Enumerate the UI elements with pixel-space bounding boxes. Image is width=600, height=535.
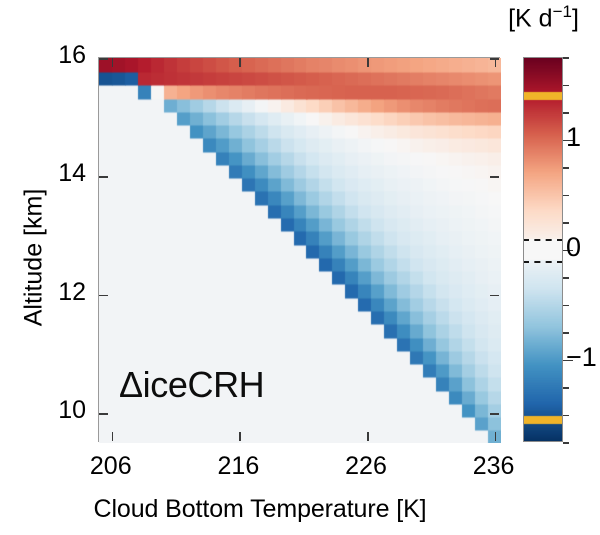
colorbar-tick-0.5 [563,195,569,197]
x-axis-title: Cloud Bottom Temperature [K] [0,495,520,524]
colorbar-label--1: −1 [566,342,597,373]
colorbar-tick-0.25 [563,222,569,224]
y-tick-10 [99,413,108,415]
colorbar-label-1: 1 [566,122,581,153]
colorbar-units-prefix: [K d [508,4,552,32]
colorbar [523,57,563,442]
colorbar-units-suffix: ] [572,4,579,32]
colorbar-zero-dash-lower [523,261,563,263]
colorbar-gradient [523,57,563,442]
y-tick-16 [490,58,499,60]
y-tick-16 [99,58,108,60]
y-tick-10 [490,413,499,415]
colorbar-tick-1.5 [563,85,569,87]
plot-annotation-label: ΔiceCRH [119,364,264,406]
colorbar-tick-1.75 [563,57,569,59]
colorbar-units-exponent: −1 [553,2,572,21]
y-tick-12 [99,295,108,297]
x-tick-236 [495,432,497,441]
x-tick-206 [112,432,114,441]
x-tick-206 [112,58,114,67]
x-tick-label-216: 216 [193,452,283,481]
colorbar-tick--0.75 [563,332,569,334]
x-tick-label-206: 206 [66,452,156,481]
x-tick-label-226: 226 [321,452,411,481]
colorbar-label-0: 0 [566,232,581,263]
colorbar-zero-dash-upper [523,239,563,241]
y-tick-14 [490,176,499,178]
x-tick-label-236: 236 [449,452,539,481]
colorbar-tick--0.5 [563,305,569,307]
colorbar-tick--0.25 [563,277,569,279]
y-tick-14 [99,176,108,178]
colorbar-tick-0.75 [563,167,569,169]
x-tick-226 [367,432,369,441]
colorbar-tick-1.25 [563,112,569,114]
x-tick-226 [367,58,369,67]
y-tick-label-16: 16 [16,41,86,70]
x-tick-216 [239,432,241,441]
x-tick-216 [239,58,241,67]
colorbar-tick--1.25 [563,387,569,389]
heatmap-plot-area: ΔiceCRH [98,57,500,442]
y-axis-title: Altitude [km] [20,93,49,423]
colorbar-tick--1.75 [563,442,569,444]
y-tick-12 [490,295,499,297]
colorbar-units-label: [K d−1] [487,2,600,33]
colorbar-tick--1.5 [563,415,569,417]
